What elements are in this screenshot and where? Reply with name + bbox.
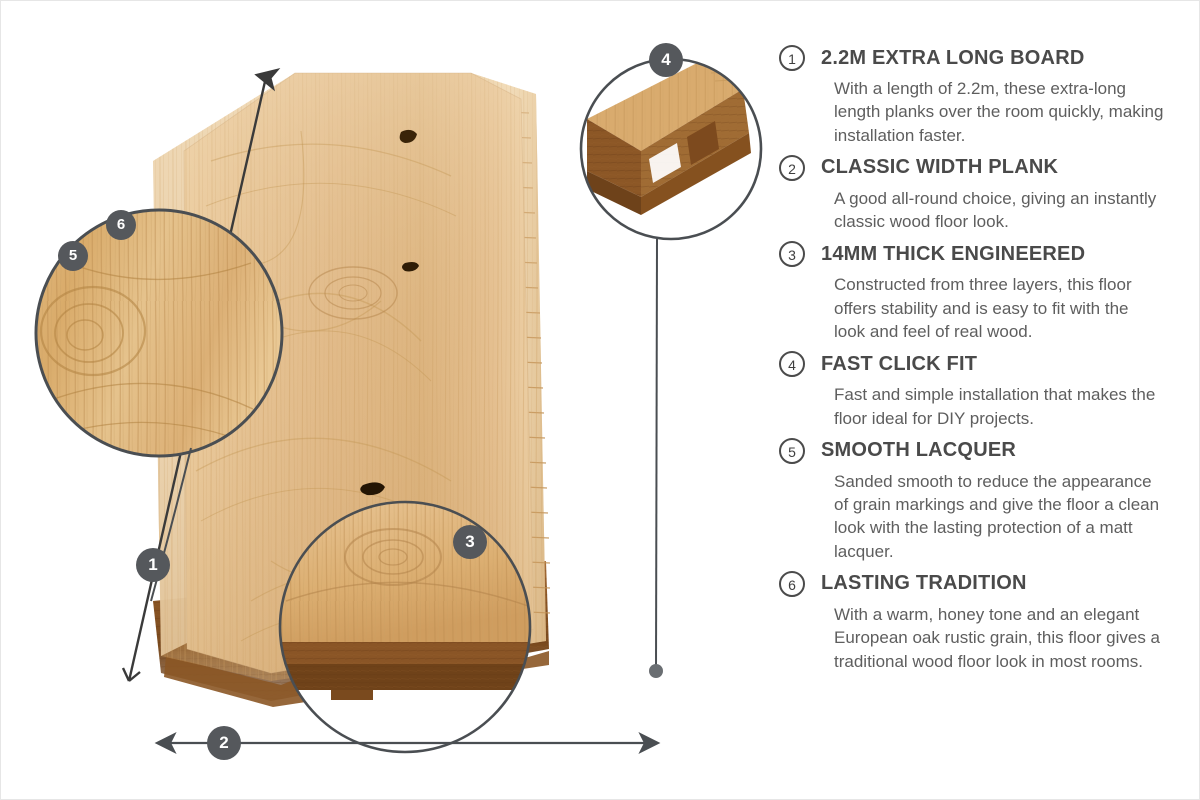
feature-4-body: Fast and simple installation that makes … bbox=[834, 383, 1164, 430]
magnifier-clickfit-leader bbox=[656, 239, 657, 669]
marker-5-label: 5 bbox=[69, 247, 77, 264]
feature-2-number: 2 bbox=[779, 155, 805, 181]
feature-item-3: 3 14MM THICK ENGINEERED Constructed from… bbox=[779, 237, 1179, 343]
feature-diagram-page: 1 2 3 4 5 6 1 2.2M EXTRA LONG BOARD With… bbox=[0, 0, 1200, 800]
feature-3-body: Constructed from three layers, this floo… bbox=[834, 273, 1164, 343]
marker-4-label: 4 bbox=[661, 50, 670, 69]
marker-2[interactable]: 2 bbox=[207, 726, 241, 760]
feature-3-title: 14MM THICK ENGINEERED bbox=[821, 243, 1085, 266]
feature-item-5: 5 SMOOTH LACQUER Sanded smooth to reduce… bbox=[779, 434, 1179, 563]
feature-5-head: 5 SMOOTH LACQUER bbox=[779, 434, 1179, 468]
feature-3-head: 3 14MM THICK ENGINEERED bbox=[779, 237, 1179, 271]
marker-4[interactable]: 4 bbox=[649, 43, 683, 77]
feature-item-2: 2 CLASSIC WIDTH PLANK A good all-round c… bbox=[779, 151, 1179, 234]
feature-6-body: With a warm, honey tone and an elegant E… bbox=[834, 603, 1164, 673]
magnifier-clickfit bbox=[581, 59, 761, 678]
feature-3-number: 3 bbox=[779, 241, 805, 267]
plank-illustration-svg bbox=[1, 1, 771, 800]
feature-4-head: 4 FAST CLICK FIT bbox=[779, 347, 1179, 381]
feature-item-4: 4 FAST CLICK FIT Fast and simple install… bbox=[779, 347, 1179, 430]
feature-1-head: 1 2.2M EXTRA LONG BOARD bbox=[779, 41, 1179, 75]
feature-2-title: CLASSIC WIDTH PLANK bbox=[821, 156, 1058, 179]
feature-1-body: With a length of 2.2m, these extra-long … bbox=[834, 77, 1164, 147]
feature-list: 1 2.2M EXTRA LONG BOARD With a length of… bbox=[779, 41, 1179, 677]
feature-1-title: 2.2M EXTRA LONG BOARD bbox=[821, 47, 1084, 70]
marker-3[interactable]: 3 bbox=[453, 525, 487, 559]
feature-2-body: A good all-round choice, giving an insta… bbox=[834, 187, 1164, 234]
plank-illustration: 1 2 3 4 5 6 bbox=[1, 1, 771, 800]
marker-1-label: 1 bbox=[148, 555, 157, 574]
marker-6[interactable]: 6 bbox=[106, 210, 136, 240]
feature-5-number: 5 bbox=[779, 438, 805, 464]
feature-6-number: 6 bbox=[779, 571, 805, 597]
feature-6-title: LASTING TRADITION bbox=[821, 572, 1027, 595]
feature-4-number: 4 bbox=[779, 351, 805, 377]
clickfit-leader-endpoint bbox=[649, 664, 663, 678]
feature-6-head: 6 LASTING TRADITION bbox=[779, 567, 1179, 601]
marker-5[interactable]: 5 bbox=[58, 241, 88, 271]
marker-6-label: 6 bbox=[117, 216, 125, 233]
feature-5-title: SMOOTH LACQUER bbox=[821, 439, 1016, 462]
feature-item-6: 6 LASTING TRADITION With a warm, honey t… bbox=[779, 567, 1179, 673]
feature-5-body: Sanded smooth to reduce the appearance o… bbox=[834, 470, 1164, 563]
feature-4-title: FAST CLICK FIT bbox=[821, 353, 977, 376]
marker-1[interactable]: 1 bbox=[136, 548, 170, 582]
feature-item-1: 1 2.2M EXTRA LONG BOARD With a length of… bbox=[779, 41, 1179, 147]
marker-2-label: 2 bbox=[219, 733, 228, 752]
marker-3-label: 3 bbox=[465, 532, 474, 551]
magnifier-thickness bbox=[280, 502, 531, 752]
feature-2-head: 2 CLASSIC WIDTH PLANK bbox=[779, 151, 1179, 185]
feature-1-number: 1 bbox=[779, 45, 805, 71]
